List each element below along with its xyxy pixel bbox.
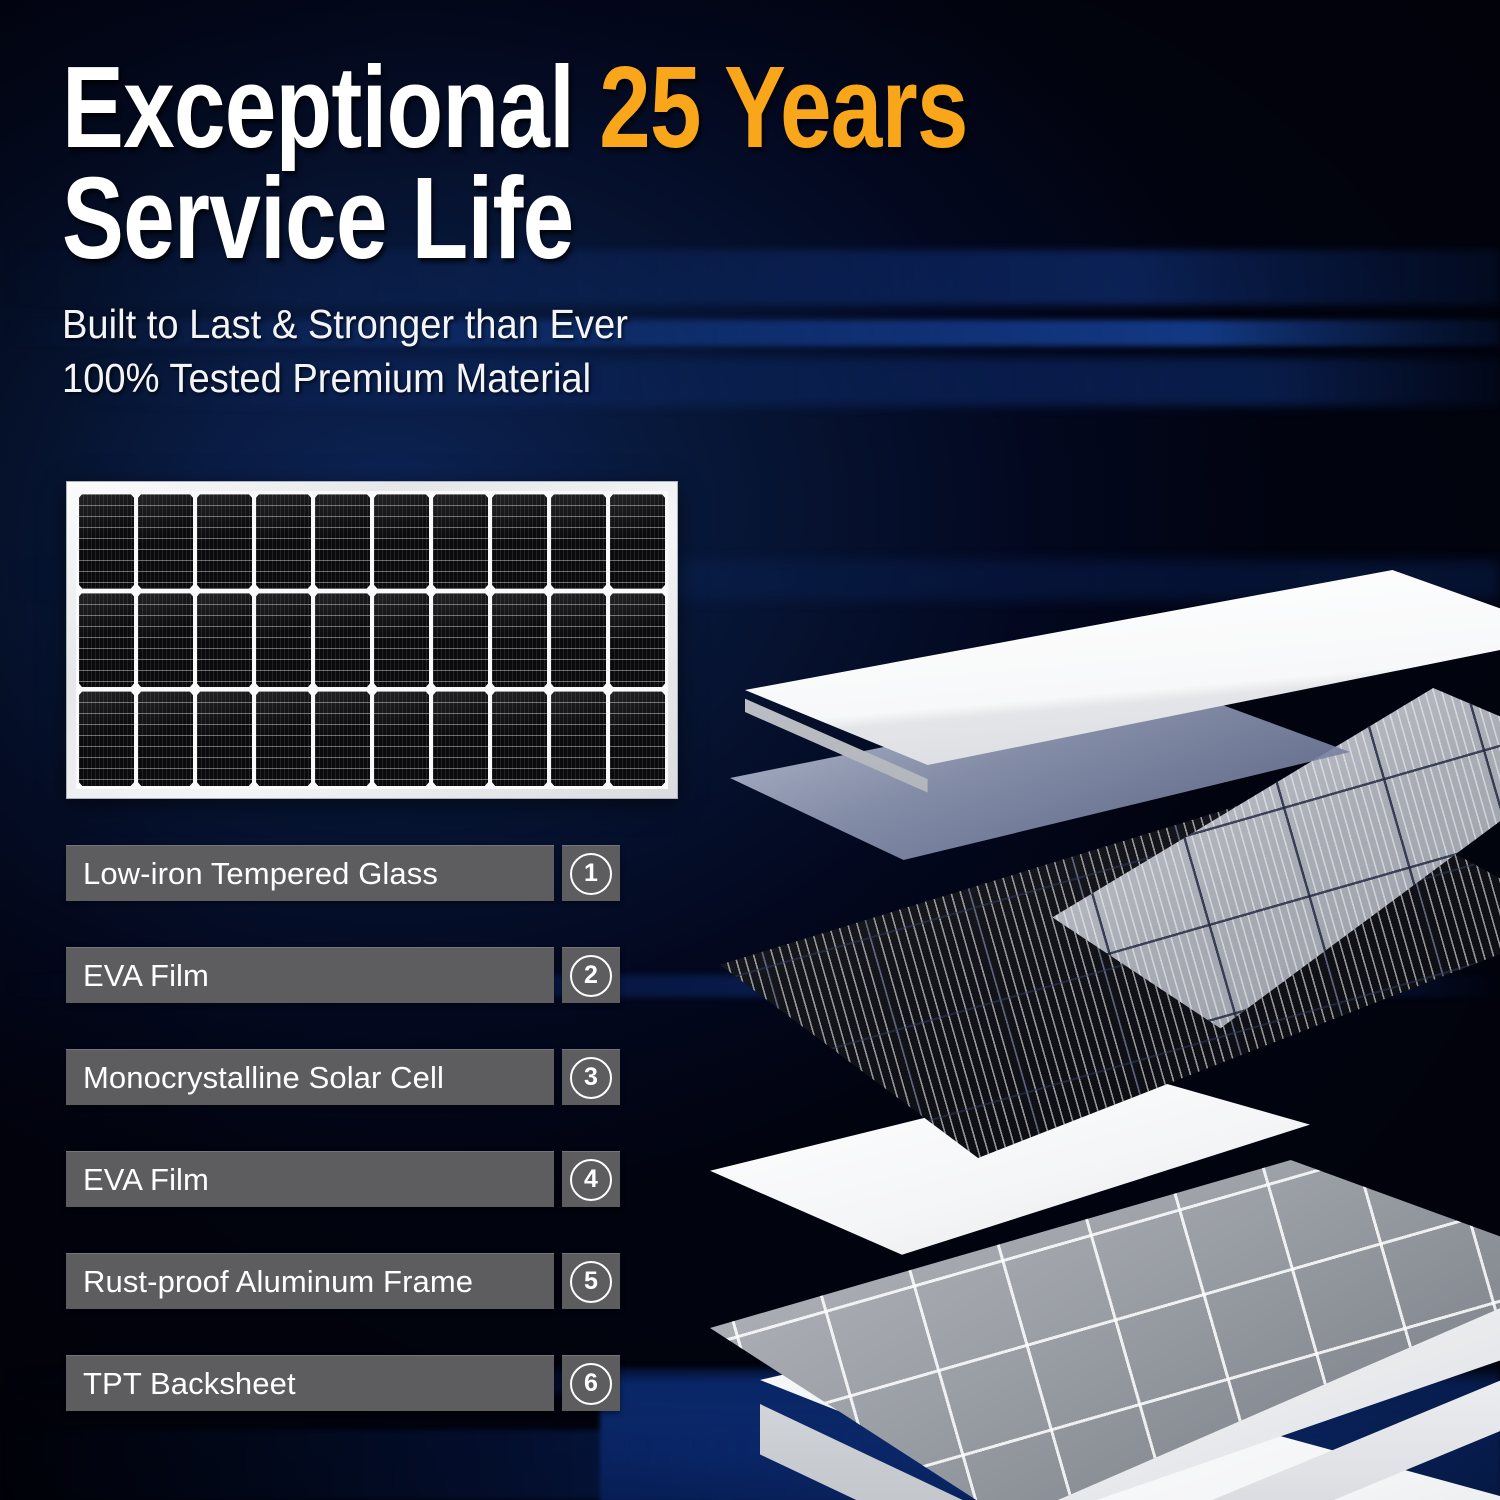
circle-number-icon: 1 (570, 853, 612, 895)
solar-cell (315, 593, 370, 688)
solar-cell (610, 691, 665, 786)
subtitle-group: Built to Last & Stronger than Ever 100% … (62, 297, 1322, 405)
layer-label-1: Low-iron Tempered Glass (66, 845, 554, 901)
solar-cell (197, 691, 252, 786)
solar-cell (551, 691, 606, 786)
solar-cell (433, 494, 488, 589)
solar-cell (374, 691, 429, 786)
subtitle-line-2: 100% Tested Premium Material (62, 351, 1234, 405)
page-title-line-2: Service Life (62, 163, 1070, 274)
solar-panel-glass-area (76, 491, 668, 789)
solar-cell (197, 494, 252, 589)
solar-cell (197, 593, 252, 688)
solar-cell (315, 691, 370, 786)
layer-legend-row[interactable]: Monocrystalline Solar Cell3 (66, 1049, 646, 1105)
header: Exceptional 25 Years Service Life Built … (62, 52, 1322, 405)
solar-cell (433, 691, 488, 786)
layer-legend-row[interactable]: Rust-proof Aluminum Frame5 (66, 1253, 646, 1309)
circle-number-icon: 3 (570, 1057, 612, 1099)
layer-label-text: Low-iron Tempered Glass (83, 856, 438, 892)
circle-number-icon: 4 (570, 1159, 612, 1201)
layer-number-badge-6: 6 (562, 1355, 620, 1411)
layer-label-2: EVA Film (66, 947, 554, 1003)
layer-number-badge-5: 5 (562, 1253, 620, 1309)
solar-cell (256, 494, 311, 589)
solar-cell (79, 494, 134, 589)
exploded-diagram (700, 470, 1500, 1500)
solar-cell (551, 593, 606, 688)
solar-cell (256, 593, 311, 688)
solar-cell (138, 494, 193, 589)
solar-cell (433, 593, 488, 688)
page-title-line-1: Exceptional 25 Years (62, 52, 1070, 163)
layer-legend-row[interactable]: Low-iron Tempered Glass1 (66, 845, 646, 901)
layer-number-badge-3: 3 (562, 1049, 620, 1105)
solar-cell (79, 691, 134, 786)
solar-cell (492, 593, 547, 688)
solar-cell (610, 593, 665, 688)
layer-label-4: EVA Film (66, 1151, 554, 1207)
solar-cell (79, 593, 134, 688)
solar-cell (374, 593, 429, 688)
solar-cell (492, 691, 547, 786)
solar-cell (138, 691, 193, 786)
solar-cell (551, 494, 606, 589)
solar-cell (138, 593, 193, 688)
circle-number-icon: 5 (570, 1261, 612, 1303)
layer-legend-list: Low-iron Tempered Glass1EVA Film2Monocry… (66, 845, 646, 1411)
solar-cell-grid (79, 494, 665, 786)
layer-label-text: TPT Backsheet (83, 1366, 296, 1402)
solar-cell (374, 494, 429, 589)
layer-label-text: EVA Film (83, 958, 209, 994)
layer-number-badge-2: 2 (562, 947, 620, 1003)
layer-legend-row[interactable]: TPT Backsheet6 (66, 1355, 646, 1411)
layer-label-text: Monocrystalline Solar Cell (83, 1060, 444, 1096)
layer-label-text: EVA Film (83, 1162, 209, 1198)
layer-legend-row[interactable]: EVA Film2 (66, 947, 646, 1003)
layer-label-5: Rust-proof Aluminum Frame (66, 1253, 554, 1309)
solar-cell (610, 494, 665, 589)
circle-number-icon: 2 (570, 955, 612, 997)
layer-label-3: Monocrystalline Solar Cell (66, 1049, 554, 1105)
solar-cell (492, 494, 547, 589)
title-text-accent: 25 Years (599, 42, 968, 172)
solar-panel-product-image (66, 481, 678, 799)
layer-label-6: TPT Backsheet (66, 1355, 554, 1411)
layer-number-badge-4: 4 (562, 1151, 620, 1207)
layer-number-badge-1: 1 (562, 845, 620, 901)
layer-label-text: Rust-proof Aluminum Frame (83, 1264, 473, 1300)
layer-legend-row[interactable]: EVA Film4 (66, 1151, 646, 1207)
subtitle-line-1: Built to Last & Stronger than Ever (62, 297, 1234, 351)
circle-number-icon: 6 (570, 1363, 612, 1405)
solar-cell (315, 494, 370, 589)
solar-cell (256, 691, 311, 786)
